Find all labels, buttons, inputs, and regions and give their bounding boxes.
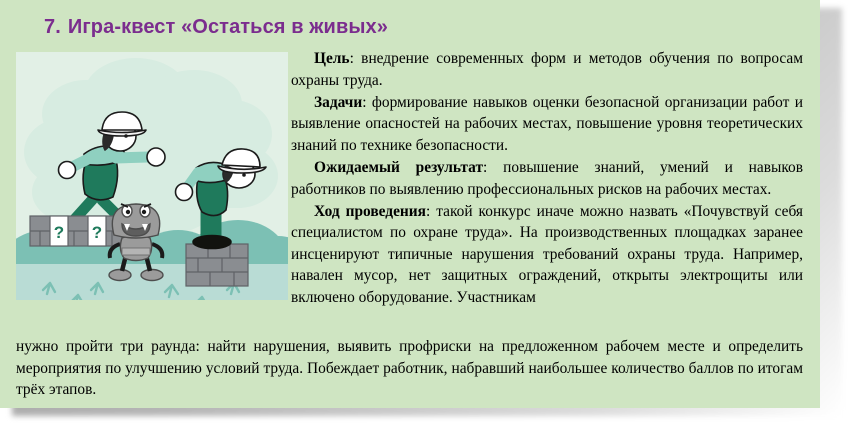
paragraph-tasks-lead: Задачи — [314, 94, 362, 111]
title-number: 7. — [44, 16, 61, 38]
body-text-column: Цель: внедрение современных форм и метод… — [291, 48, 803, 309]
svg-text:?: ? — [92, 223, 102, 242]
body-text-full-width: нужно пройти три раунда: найти нарушения… — [16, 336, 803, 401]
content-card: 7.Игра-квест «Остаться в живых» — [0, 0, 820, 408]
paragraph-goal: Цель: внедрение современных форм и метод… — [291, 48, 803, 91]
paragraph-result-lead: Ожидаемый результат — [314, 159, 483, 176]
paragraph-continuation: нужно пройти три раунда: найти нарушения… — [16, 336, 803, 401]
illustration: ? ? — [16, 52, 288, 300]
paragraph-goal-text: : внедрение современных форм и методов о… — [291, 50, 803, 89]
paragraph-tasks-text: : формирование навыков оценки безопасной… — [291, 94, 803, 154]
paragraph-tasks: Задачи: формирование навыков оценки безо… — [291, 92, 803, 157]
paragraph-result: Ожидаемый результат: повышение знаний, у… — [291, 157, 803, 200]
svg-text:?: ? — [54, 223, 64, 242]
title-text: Игра-квест «Остаться в живых» — [68, 16, 388, 38]
paragraph-procedure-lead: Ход проведения — [314, 203, 426, 220]
brick-pillar — [186, 244, 248, 286]
paragraph-procedure: Ход проведения: такой конкурс иначе можн… — [291, 201, 803, 309]
page-title: 7.Игра-квест «Остаться в живых» — [44, 16, 388, 39]
paragraph-goal-lead: Цель — [314, 50, 350, 67]
page-root: 7.Игра-квест «Остаться в живых» — [0, 0, 860, 435]
